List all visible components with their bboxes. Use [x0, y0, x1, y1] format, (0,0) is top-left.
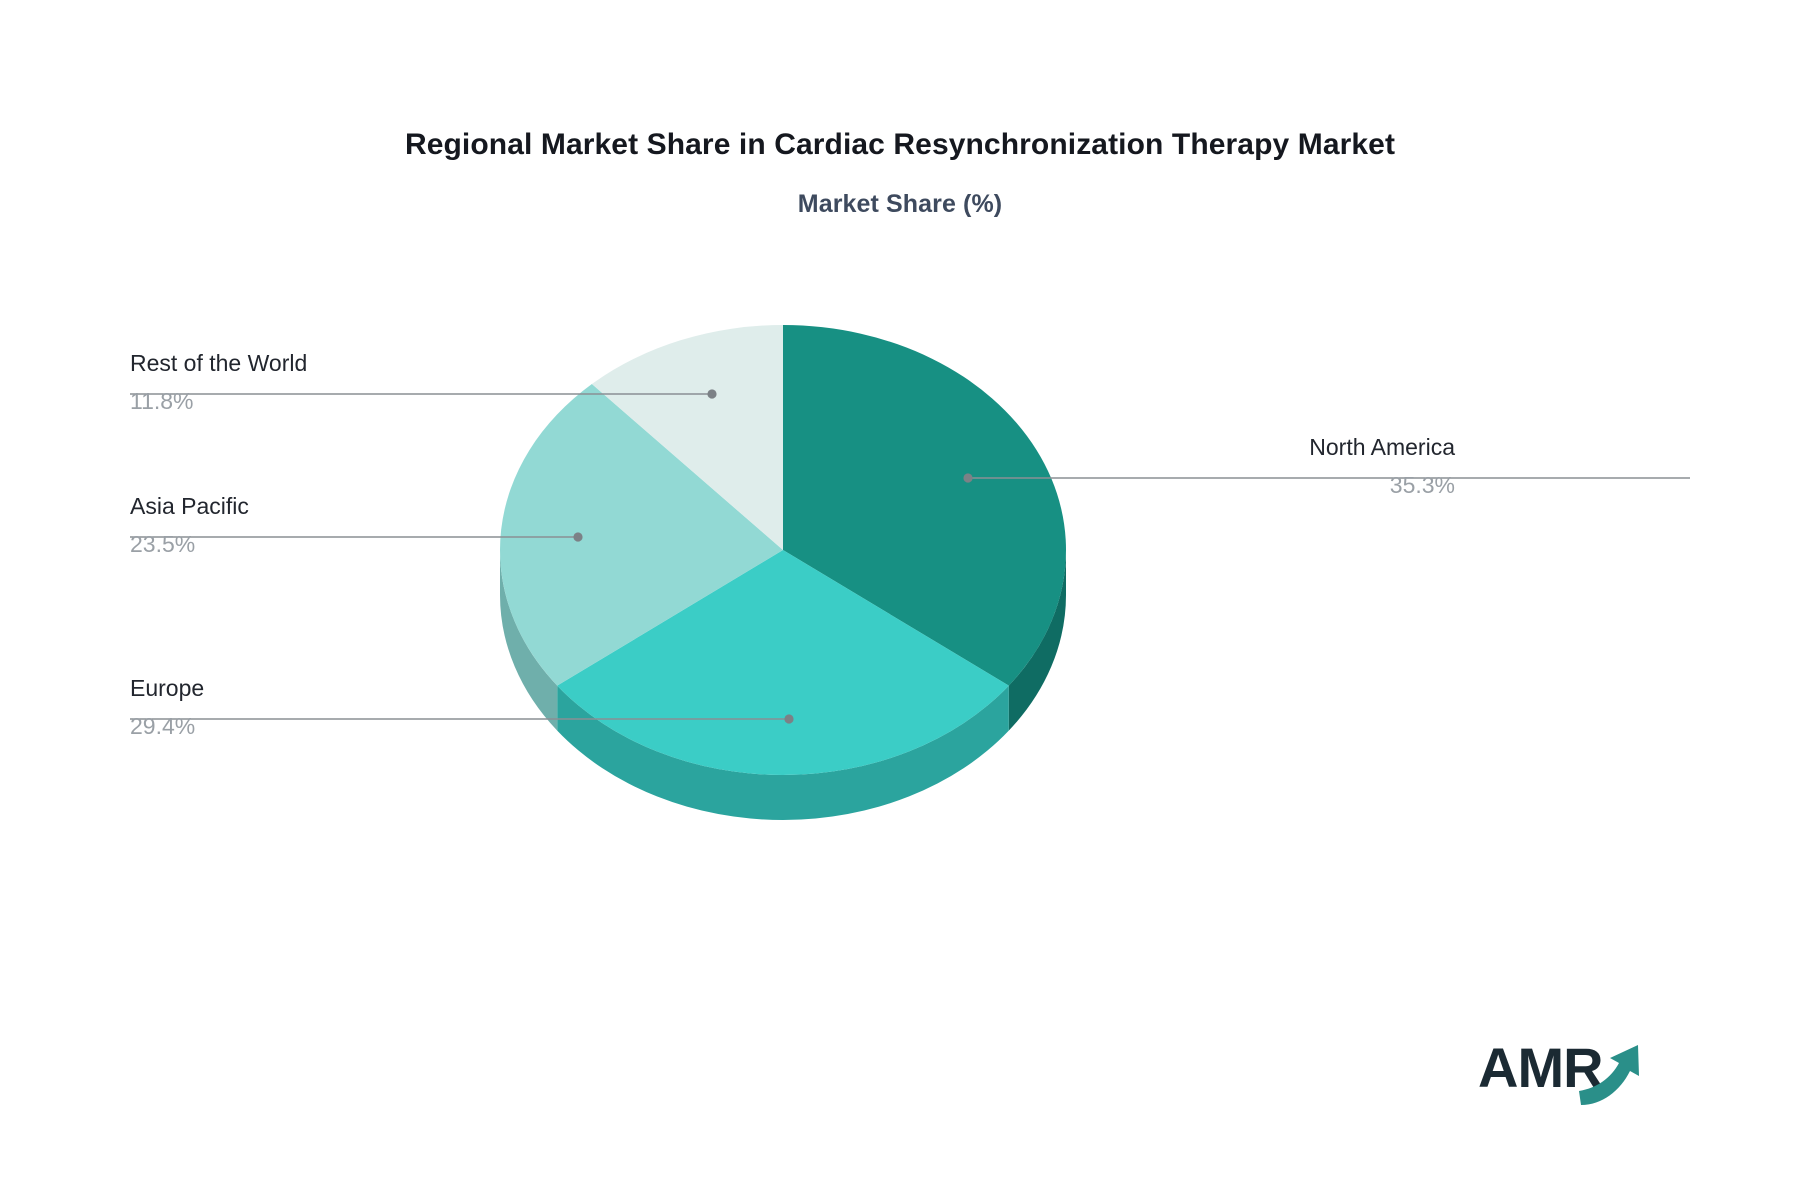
- pie-top-face: [500, 325, 1066, 775]
- pie-chart: [0, 0, 1800, 1196]
- leader-dot-asia-pacific: [573, 532, 582, 541]
- callout-label-asia-pacific: Asia Pacific: [130, 491, 430, 524]
- callout-north-america[interactable]: North America 35.3%: [1155, 432, 1455, 500]
- callout-value-asia-pacific: 23.5%: [130, 524, 430, 559]
- callout-value-north-america: 35.3%: [1155, 465, 1455, 500]
- callout-value-europe: 29.4%: [130, 706, 430, 741]
- callout-label-rest-of-world: Rest of the World: [130, 348, 430, 381]
- leader-dot-europe: [784, 714, 793, 723]
- leader-dot-rest-of-world: [707, 389, 716, 398]
- chart-canvas: Regional Market Share in Cardiac Resynch…: [0, 0, 1800, 1196]
- callout-europe[interactable]: Europe 29.4%: [130, 673, 430, 741]
- callout-label-north-america: North America: [1155, 432, 1455, 465]
- amr-logo-text: AMR: [1478, 1036, 1603, 1099]
- callout-label-europe: Europe: [130, 673, 430, 706]
- leader-dot-north-america: [963, 473, 972, 482]
- callout-value-rest-of-world: 11.8%: [130, 381, 430, 416]
- amr-logo: AMR: [1478, 1035, 1653, 1107]
- callout-asia-pacific[interactable]: Asia Pacific 23.5%: [130, 491, 430, 559]
- callout-rest-of-world[interactable]: Rest of the World 11.8%: [130, 348, 430, 416]
